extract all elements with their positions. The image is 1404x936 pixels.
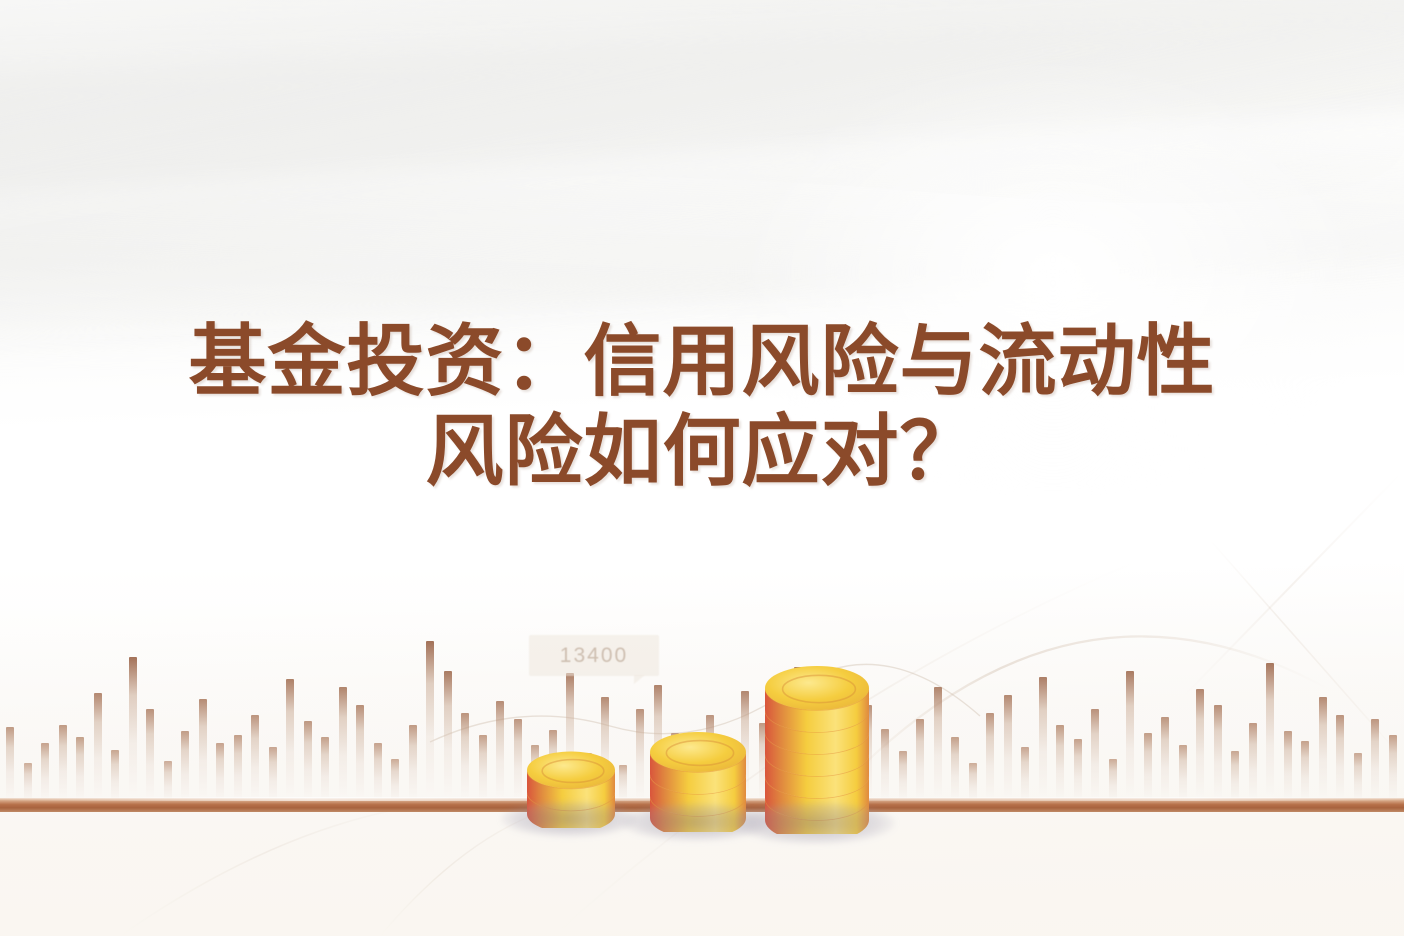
page-title-line-2: 风险如何应对？ bbox=[425, 407, 978, 495]
title-block: 基金投资：信用风险与流动性 风险如何应对？ bbox=[0, 316, 1404, 497]
chart-bar bbox=[1301, 741, 1309, 805]
chart-bar bbox=[829, 711, 837, 805]
chart-bar bbox=[374, 743, 382, 805]
chart-bar bbox=[216, 743, 224, 805]
chart-bar bbox=[199, 699, 207, 805]
chart-bar bbox=[251, 715, 259, 805]
chart-bar bbox=[94, 693, 102, 805]
chart-bar bbox=[566, 673, 574, 805]
background-bar-chart bbox=[0, 575, 1404, 805]
chart-bar bbox=[6, 727, 14, 805]
chart-bar bbox=[444, 671, 452, 805]
chart-bar bbox=[1319, 697, 1327, 805]
chart-bar bbox=[129, 657, 137, 805]
chart-bar bbox=[1126, 671, 1134, 805]
chart-bar bbox=[304, 721, 312, 805]
chart-bar bbox=[181, 731, 189, 805]
chart-bar bbox=[724, 739, 732, 805]
chart-bar bbox=[794, 667, 802, 805]
chart-bar bbox=[461, 713, 469, 805]
chart-value-tooltip: 13400 bbox=[529, 635, 659, 676]
chart-baseline-sheen bbox=[0, 797, 1404, 801]
chart-bar bbox=[811, 683, 819, 805]
chart-bar bbox=[759, 723, 767, 805]
chart-bar bbox=[339, 687, 347, 805]
chart-bar bbox=[1074, 739, 1082, 805]
chart-bar bbox=[76, 737, 84, 805]
chart-bar bbox=[286, 679, 294, 805]
chart-bar bbox=[531, 745, 539, 805]
chart-bar bbox=[741, 691, 749, 805]
chart-bar bbox=[864, 705, 872, 805]
chart-bar bbox=[1196, 689, 1204, 805]
chart-bar bbox=[1161, 717, 1169, 805]
chart-bar bbox=[146, 709, 154, 805]
chart-bar bbox=[601, 697, 609, 805]
page-title-line-1: 基金投资：信用风险与流动性 bbox=[188, 317, 1215, 405]
chart-bar bbox=[41, 743, 49, 805]
chart-bar bbox=[549, 730, 557, 805]
chart-bar bbox=[1056, 725, 1064, 805]
chart-bar bbox=[479, 735, 487, 805]
chart-bar bbox=[496, 701, 504, 805]
chart-bar bbox=[671, 733, 679, 805]
chart-bar bbox=[951, 737, 959, 805]
chart-bar bbox=[59, 725, 67, 805]
chart-bar bbox=[1091, 709, 1099, 805]
chart-bar bbox=[1004, 695, 1012, 805]
chart-bar bbox=[409, 725, 417, 805]
chart-bar bbox=[846, 741, 854, 805]
chart-bar bbox=[1336, 715, 1344, 805]
chart-bar bbox=[1249, 723, 1257, 805]
chart-bar bbox=[881, 729, 889, 805]
chart-bar bbox=[1389, 735, 1397, 805]
chart-bar bbox=[654, 685, 662, 805]
chart-bar bbox=[1179, 745, 1187, 805]
chart-bar bbox=[321, 737, 329, 805]
chart-bar bbox=[1214, 705, 1222, 805]
chart-value-tooltip-label: 13400 bbox=[560, 644, 628, 668]
chart-bar bbox=[1144, 733, 1152, 805]
chart-bar bbox=[706, 715, 714, 805]
chart-bar bbox=[426, 641, 434, 805]
slide-canvas: 13400 bbox=[0, 0, 1404, 936]
chart-bar bbox=[934, 687, 942, 805]
chart-bar bbox=[916, 719, 924, 805]
chart-bar bbox=[1284, 731, 1292, 805]
chart-bar bbox=[356, 705, 364, 805]
page-title: 基金投资：信用风险与流动性 风险如何应对？ bbox=[0, 316, 1404, 497]
chart-bar bbox=[1371, 719, 1379, 805]
chart-bar bbox=[986, 713, 994, 805]
chart-bar bbox=[636, 709, 644, 805]
chart-bar bbox=[1039, 677, 1047, 805]
chart-bar bbox=[514, 719, 522, 805]
chart-bar bbox=[1266, 663, 1274, 805]
chart-bar bbox=[234, 735, 242, 805]
